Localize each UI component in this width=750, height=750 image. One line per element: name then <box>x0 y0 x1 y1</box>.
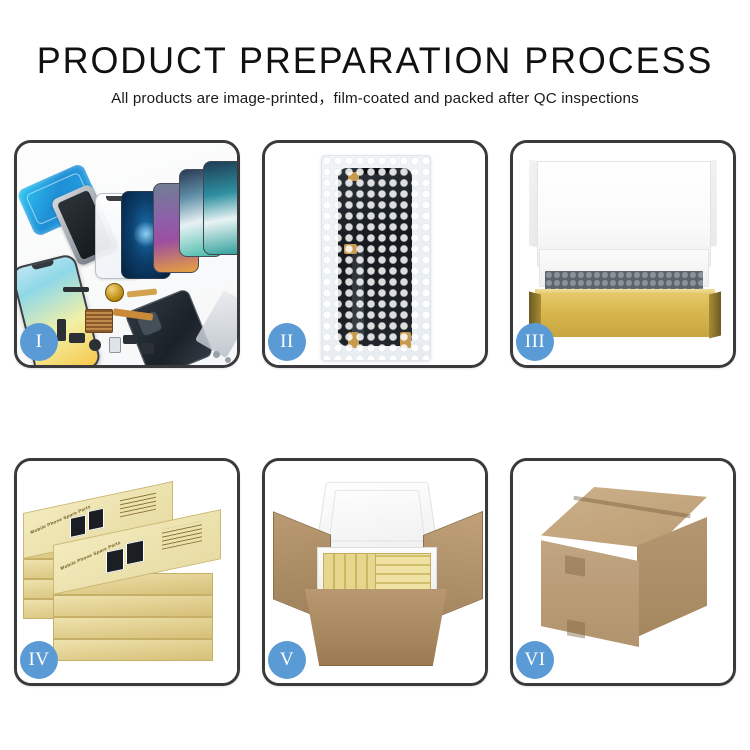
stacked-box <box>53 595 213 617</box>
carton-tab-2-icon <box>567 619 585 638</box>
tape-3-icon <box>348 332 359 348</box>
phone-teal-2-icon <box>203 161 237 255</box>
process-step-grid: I II <box>14 140 736 686</box>
step-badge: VI <box>516 641 554 679</box>
carton-tab-1-icon <box>565 555 585 577</box>
screw-2-icon <box>225 357 231 363</box>
flex-cable-2-icon <box>127 288 157 297</box>
step-badge: II <box>268 323 306 361</box>
box-label-screen-1-icon <box>106 548 124 574</box>
page-subtitle: All products are image-printed，film-coat… <box>0 89 750 109</box>
process-step-5: V <box>262 458 488 686</box>
tape-2-icon <box>344 244 357 254</box>
screw-1-icon <box>213 351 220 358</box>
carton-body-icon <box>305 589 447 666</box>
process-step-3: III <box>510 140 736 368</box>
small-part-4-icon <box>109 337 121 353</box>
page-title: PRODUCT PREPARATION PROCESS <box>11 40 739 82</box>
process-step-4: Mobile Phone Spare Parts Mobile Phone Sp… <box>14 458 240 686</box>
styrofoam-lid-icon <box>315 482 439 553</box>
process-step-6: VI <box>510 458 736 686</box>
header: PRODUCT PREPARATION PROCESS All products… <box>0 0 750 109</box>
carton-front-face-icon <box>541 531 639 647</box>
process-step-1: I <box>14 140 240 368</box>
small-part-6-icon <box>57 319 66 341</box>
tape-1-icon <box>348 172 359 181</box>
small-part-1-icon <box>63 287 89 292</box>
step-badge: III <box>516 323 554 361</box>
step-badge: I <box>20 323 58 361</box>
small-part-5-icon <box>123 335 137 344</box>
phone-back-housing-icon <box>124 288 214 365</box>
box-label-screen-1-icon <box>70 515 86 538</box>
yellow-box-body-icon <box>535 293 715 337</box>
product-preparation-infographic: PRODUCT PREPARATION PROCESS All products… <box>0 0 750 750</box>
bubble-wrap-package-icon <box>321 155 431 361</box>
box-label-lines-icon <box>120 492 156 518</box>
small-part-2-icon <box>69 333 85 343</box>
stacked-box <box>53 639 213 661</box>
wrapped-screen-icon <box>338 168 412 346</box>
box-label-lines-icon <box>162 521 202 550</box>
step-badge: IV <box>20 641 58 679</box>
box-label-screen-2-icon <box>88 508 104 531</box>
chip-grid-icon <box>85 309 113 333</box>
tape-4-icon <box>400 332 411 348</box>
box-label-screen-2-icon <box>126 540 144 566</box>
step-badge: V <box>268 641 306 679</box>
process-step-2: II <box>262 140 488 368</box>
coil-part-icon <box>105 283 124 302</box>
stacked-box <box>53 617 213 639</box>
wrapped-flex-cable-icon <box>352 248 364 340</box>
small-part-7-icon <box>141 343 154 354</box>
small-part-3-icon <box>89 339 101 351</box>
